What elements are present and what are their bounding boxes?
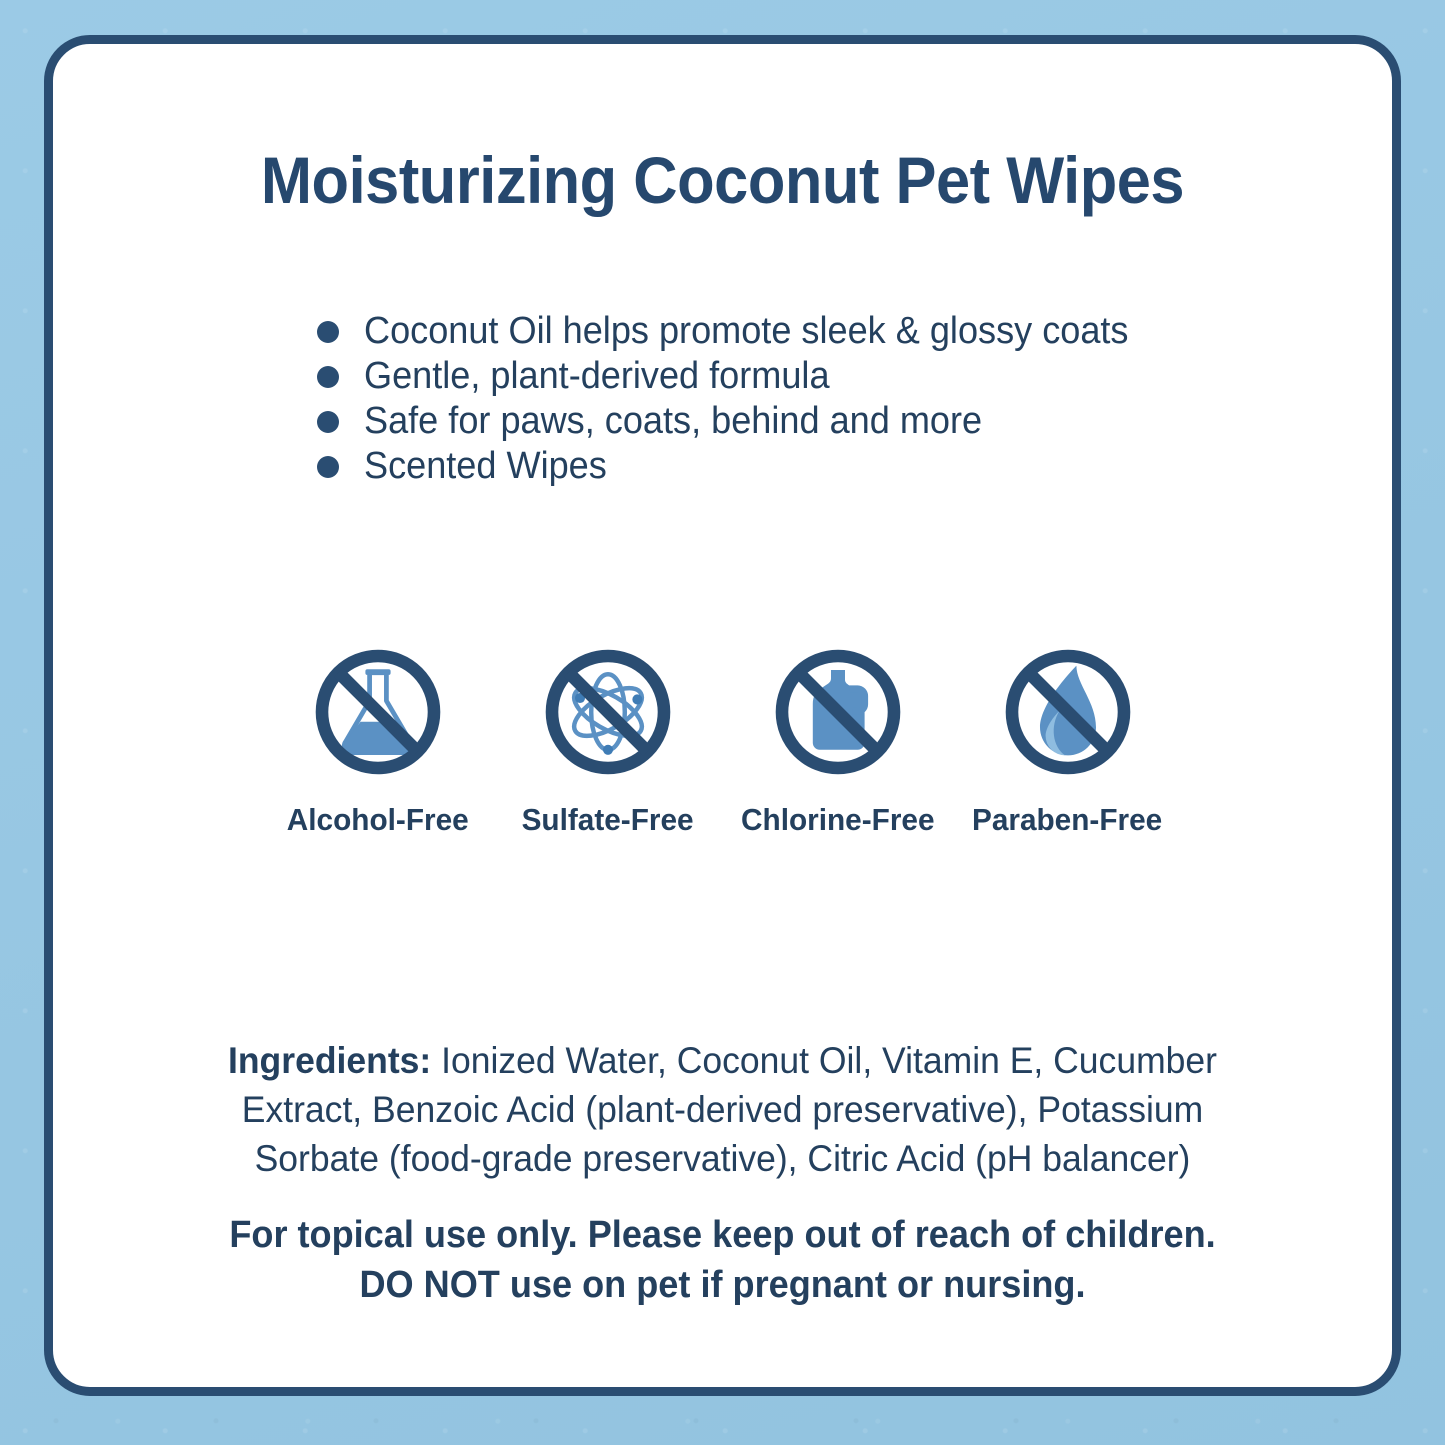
ingredients-heading: Ingredients: bbox=[228, 1040, 431, 1081]
bullet-dot-icon bbox=[317, 411, 339, 433]
list-item: Gentle, plant-derived formula bbox=[317, 354, 1169, 399]
no-atom-icon bbox=[538, 642, 678, 782]
benefit-text: Gentle, plant-derived formula bbox=[364, 354, 830, 399]
product-info-card: Moisturizing Coconut Pet Wipes Coconut O… bbox=[44, 35, 1401, 1396]
badge-chlorine-free: Chlorine-Free bbox=[723, 642, 953, 838]
bullet-dot-icon bbox=[317, 456, 339, 478]
no-flask-icon bbox=[308, 642, 448, 782]
benefit-text: Coconut Oil helps promote sleek & glossy… bbox=[364, 309, 1128, 354]
benefit-text: Safe for paws, coats, behind and more bbox=[364, 399, 982, 444]
warning-line-2: DO NOT use on pet if pregnant or nursing… bbox=[200, 1260, 1244, 1310]
bullet-dot-icon bbox=[317, 366, 339, 388]
warning-line-1: For topical use only. Please keep out of… bbox=[200, 1210, 1244, 1260]
ingredients-paragraph: Ingredients: Ionized Water, Coconut Oil,… bbox=[226, 1036, 1220, 1183]
badge-label: Chlorine-Free bbox=[741, 802, 934, 838]
list-item: Scented Wipes bbox=[317, 444, 1169, 489]
badge-sulfate-free: Sulfate-Free bbox=[493, 642, 723, 838]
list-item: Safe for paws, coats, behind and more bbox=[317, 399, 1169, 444]
badge-label: Paraben-Free bbox=[972, 802, 1162, 838]
benefits-list: Coconut Oil helps promote sleek & glossy… bbox=[317, 309, 1169, 489]
badge-paraben-free: Paraben-Free bbox=[953, 642, 1183, 838]
badge-alcohol-free: Alcohol-Free bbox=[263, 642, 493, 838]
benefit-text: Scented Wipes bbox=[364, 444, 607, 489]
page-title: Moisturizing Coconut Pet Wipes bbox=[100, 142, 1345, 218]
warning-text: For topical use only. Please keep out of… bbox=[200, 1210, 1244, 1310]
badge-label: Alcohol-Free bbox=[287, 802, 469, 838]
no-jug-icon bbox=[768, 642, 908, 782]
list-item: Coconut Oil helps promote sleek & glossy… bbox=[317, 309, 1169, 354]
bullet-dot-icon bbox=[317, 321, 339, 343]
badge-label: Sulfate-Free bbox=[521, 802, 693, 838]
free-from-badge-row: Alcohol-Free Sulfate-Free bbox=[107, 642, 1338, 838]
no-droplet-icon bbox=[998, 642, 1138, 782]
